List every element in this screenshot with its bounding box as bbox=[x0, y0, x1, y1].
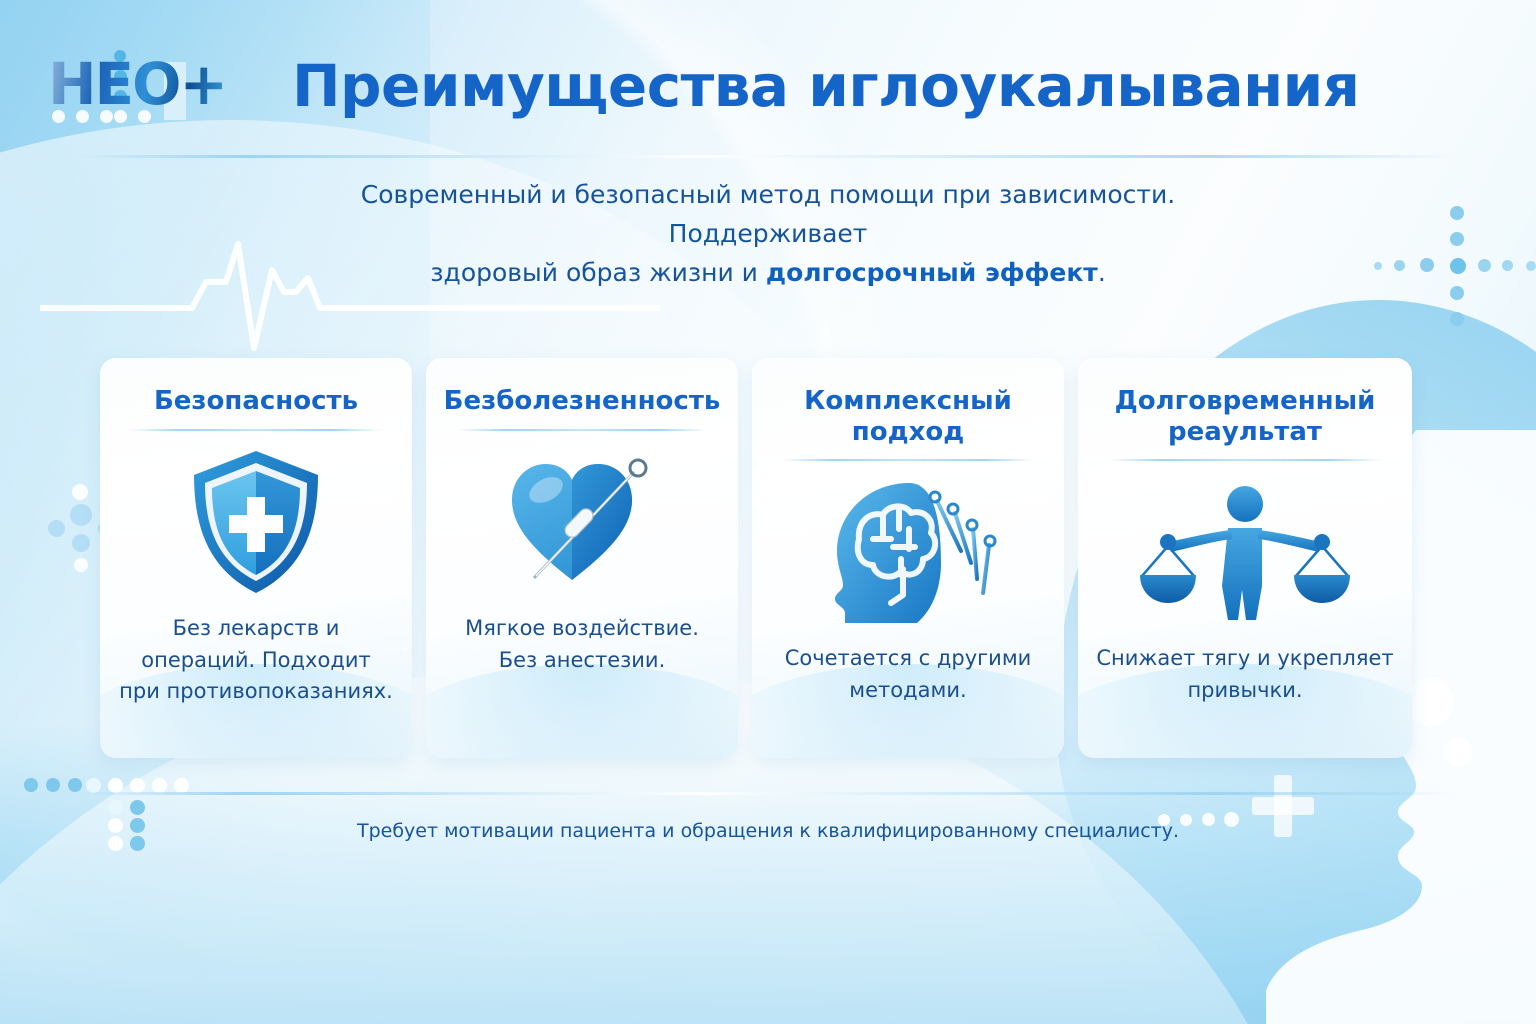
balance-scales-person-icon bbox=[1078, 467, 1412, 637]
card-text: Без лекарств и операций. Подходит при пр… bbox=[118, 613, 394, 709]
benefit-card-safety[interactable]: Безопасность bbox=[100, 358, 412, 758]
footer-note: Требует мотивации пациента и обращения к… bbox=[268, 820, 1268, 842]
dot-grid-pattern-bottom-left bbox=[24, 760, 304, 850]
footer-divider bbox=[80, 792, 1456, 795]
benefit-card-painless[interactable]: Безболезненность bbox=[426, 358, 738, 758]
header: НЕО+ Преимущества иглоукалывания bbox=[0, 0, 1536, 156]
benefit-card-long-term-result[interactable]: Долговременный реаультат bbox=[1078, 358, 1412, 758]
subtitle-line-2-prefix: здоровый образ жизни и bbox=[430, 258, 766, 287]
brand-logo[interactable]: НЕО+ bbox=[48, 48, 248, 120]
benefit-cards-row: Безопасность bbox=[100, 358, 1390, 758]
card-title: Комплексный подход bbox=[768, 386, 1048, 447]
head-brain-needles-icon bbox=[752, 467, 1064, 637]
card-text: Мягкое воздействие. Без анестезии. bbox=[444, 613, 720, 677]
background-bottom-wash bbox=[0, 724, 1536, 1024]
benefit-card-complex-approach[interactable]: Комплексный подход bbox=[752, 358, 1064, 758]
subtitle-line-1: Современный и безопасный метод помощи пр… bbox=[361, 180, 1175, 248]
card-divider bbox=[1108, 459, 1382, 461]
card-title: Безопасность bbox=[116, 386, 396, 417]
card-divider bbox=[456, 429, 708, 431]
card-divider bbox=[782, 459, 1034, 461]
dotted-cross-pattern-right bbox=[1370, 206, 1536, 336]
subtitle-line-2-suffix: . bbox=[1098, 258, 1106, 287]
subtitle: Современный и безопасный метод помощи пр… bbox=[268, 176, 1268, 292]
header-divider bbox=[80, 155, 1456, 158]
card-title: Безболезненность bbox=[442, 386, 722, 417]
logo-text: НЕО+ bbox=[48, 50, 226, 118]
subtitle-highlight: долгосрочный эффект bbox=[766, 258, 1098, 287]
card-text: Снижает тягу и укрепляет привычки. bbox=[1096, 643, 1394, 707]
shield-cross-icon bbox=[100, 437, 412, 607]
page-title: Преимущества иглоукалывания bbox=[292, 52, 1360, 120]
card-text: Сочетается с другими методами. bbox=[770, 643, 1046, 707]
card-title: Долговременный реаультат bbox=[1094, 386, 1396, 447]
infographic-canvas: НЕО+ Преимущества иглоукалывания Совреме… bbox=[0, 0, 1536, 1024]
card-divider bbox=[130, 429, 382, 431]
heart-needle-icon bbox=[426, 437, 738, 607]
